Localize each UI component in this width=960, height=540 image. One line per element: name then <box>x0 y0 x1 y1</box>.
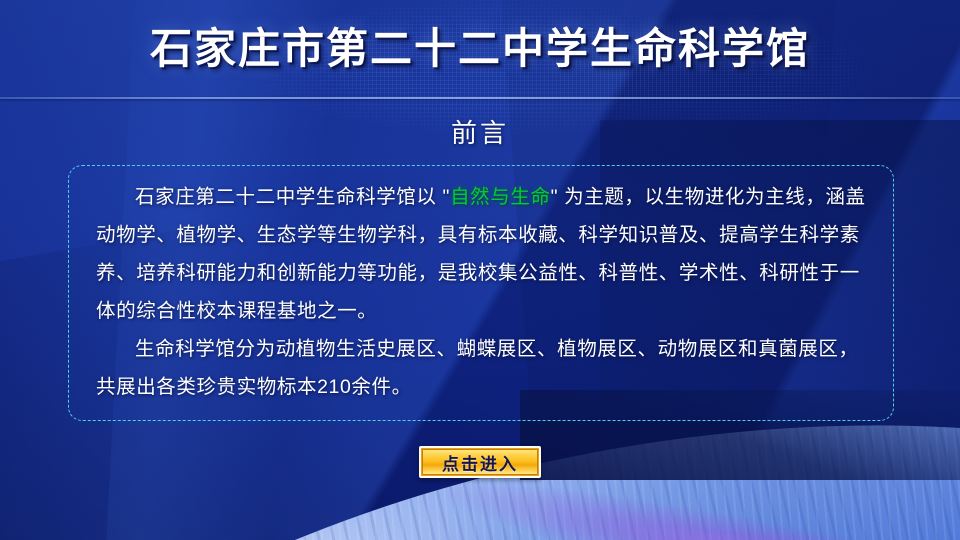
enter-button[interactable]: 点击进入 <box>419 446 541 478</box>
preface-text: 石家庄第二十二中学生命科学馆以 "自然与生命" 为主题，以生物进化为主线，涵盖动… <box>96 178 876 406</box>
quote-close: " <box>551 186 559 208</box>
quote-open: " <box>443 186 451 208</box>
paragraph-1-pre: 石家庄第二十二中学生命科学馆以 <box>135 186 443 208</box>
page-title: 石家庄市第二十二中学生命科学馆 <box>0 22 960 76</box>
paragraph-1: 石家庄第二十二中学生命科学馆以 "自然与生命" 为主题，以生物进化为主线，涵盖动… <box>96 178 876 330</box>
enter-button-face: 点击进入 <box>422 449 538 475</box>
section-subtitle: 前言 <box>0 116 960 150</box>
enter-button-label: 点击进入 <box>442 450 518 475</box>
highlight-theme: 自然与生命 <box>450 186 551 208</box>
paragraph-2: 生命科学馆分为动植物生活史展区、蝴蝶展区、植物展区、动物展区和真菌展区，共展出各… <box>96 330 876 406</box>
presentation-slide: 石家庄市第二十二中学生命科学馆 前言 石家庄第二十二中学生命科学馆以 "自然与生… <box>0 0 960 540</box>
header-divider <box>0 97 960 99</box>
